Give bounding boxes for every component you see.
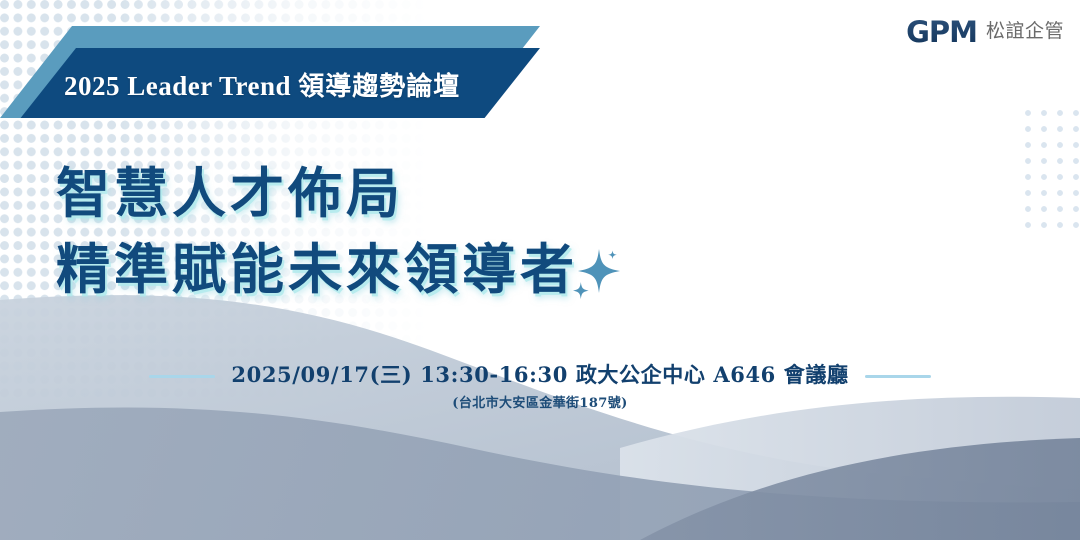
ribbon-title-en: 2025 Leader Trend: [64, 71, 291, 101]
dot-grid-pattern-right: [1025, 110, 1080, 230]
brand-logo: GPM 松誼企管: [906, 18, 1064, 47]
rule-right: [865, 375, 931, 378]
event-text-block: 2025/09/17(三) 13:30-16:30 政大公企中心 A646 會議…: [231, 362, 848, 411]
event-info: 2025/09/17(三) 13:30-16:30 政大公企中心 A646 會議…: [0, 362, 1080, 411]
event-main-line: 2025/09/17(三) 13:30-16:30 政大公企中心 A646 會議…: [231, 362, 848, 387]
headline-line-2: 精準賦能未來領導者: [56, 231, 696, 307]
ribbon-title-cjk: 領導趨勢論壇: [298, 72, 460, 102]
headline-line-1: 智慧人才佈局: [56, 155, 696, 231]
event-address: (台北市大安區金華街187號): [231, 392, 848, 411]
ribbon-title: 2025 Leader Trend 領導趨勢論壇: [64, 66, 460, 103]
rule-left: [149, 375, 215, 378]
gpm-logo-icon: GPM: [906, 18, 977, 47]
brand-name-label: 松誼企管: [986, 22, 1064, 43]
event-poster: 2025 Leader Trend 領導趨勢論壇 GPM 松誼企管 智慧人才佈局…: [0, 0, 1080, 540]
page-title: 智慧人才佈局 精準賦能未來領導者: [56, 155, 696, 307]
